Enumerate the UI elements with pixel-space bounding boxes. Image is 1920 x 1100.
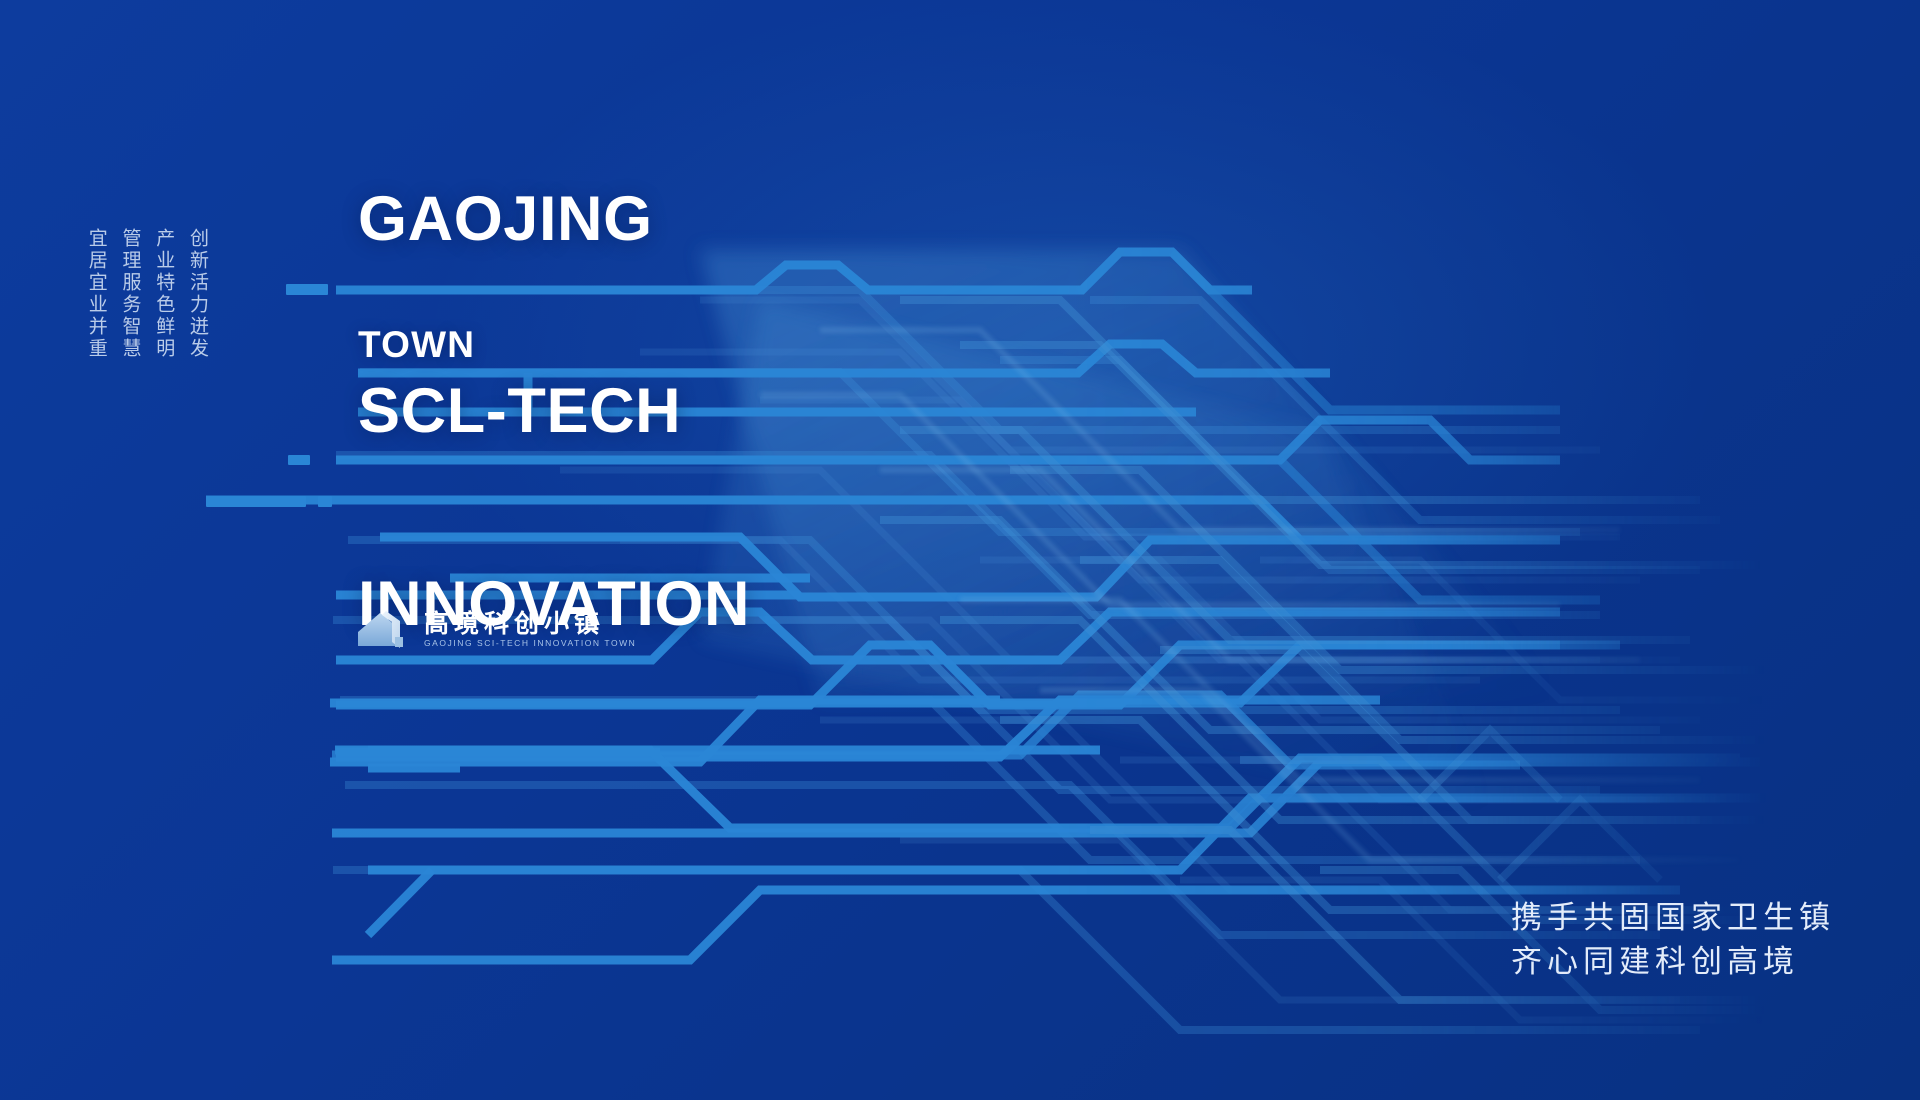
headline-line-2: SCL-TECH — [358, 379, 750, 443]
slogan-line-2: 齐心同建科创高境 — [1511, 940, 1835, 984]
headline: GAOJING SCL-TECH INNOVATION — [358, 58, 750, 765]
vertical-tagline-column-1: 创新活力迸发 — [185, 228, 209, 360]
slogan: 携手共固国家卫生镇 齐心同建科创高境 — [1511, 896, 1835, 984]
brand-name-en: GAOJING SCI-TECH INNOVATION TOWN — [424, 639, 636, 648]
poster-canvas: 创新活力迸发 产业特色鲜明 管理服务智慧 宜居宜业并重 GAOJING SCL-… — [0, 0, 1920, 1100]
vertical-tagline: 创新活力迸发 产业特色鲜明 管理服务智慧 宜居宜业并重 — [84, 228, 209, 360]
brand-logo: 高境科创小镇 GAOJING SCI-TECH INNOVATION TOWN — [356, 606, 636, 652]
headline-line-1: GAOJING — [358, 187, 750, 251]
brand-name-cn: 高境科创小镇 — [424, 611, 636, 636]
house-roof-icon — [356, 606, 412, 652]
brand-logo-text: 高境科创小镇 GAOJING SCI-TECH INNOVATION TOWN — [424, 611, 636, 648]
artwork-haze — [700, 250, 1560, 820]
vertical-tagline-column-2: 产业特色鲜明 — [152, 228, 176, 360]
vertical-tagline-column-4: 宜居宜业并重 — [84, 228, 108, 360]
slogan-line-1: 携手共固国家卫生镇 — [1511, 896, 1835, 940]
artwork-highlight-traces — [760, 330, 1740, 860]
headline-subline: TOWN — [358, 324, 475, 366]
vertical-tagline-column-3: 管理服务智慧 — [118, 228, 142, 360]
